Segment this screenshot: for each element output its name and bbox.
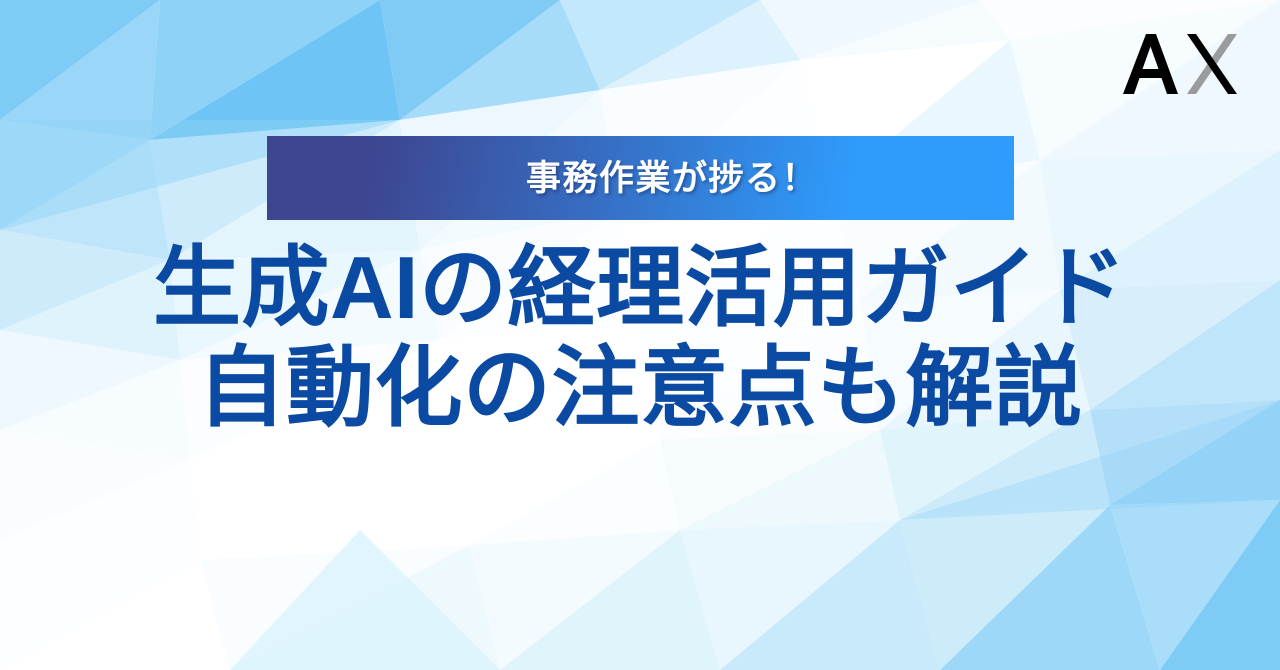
page-title: 生成AIの経理活用ガイド 自動化の注意点も解説 bbox=[0, 238, 1280, 439]
ax-logo bbox=[1120, 28, 1240, 100]
subtitle-badge: 事務作業が捗る！ bbox=[267, 136, 1014, 220]
title-line-2: 自動化の注意点も解説 bbox=[0, 338, 1280, 438]
title-line-1: 生成AIの経理活用ガイド bbox=[0, 238, 1280, 338]
subtitle-badge-label: 事務作業が捗る！ bbox=[526, 161, 818, 196]
logo-letter-a bbox=[1123, 34, 1178, 94]
hero-banner: 事務作業が捗る！ 生成AIの経理活用ガイド 自動化の注意点も解説 bbox=[0, 0, 1280, 670]
